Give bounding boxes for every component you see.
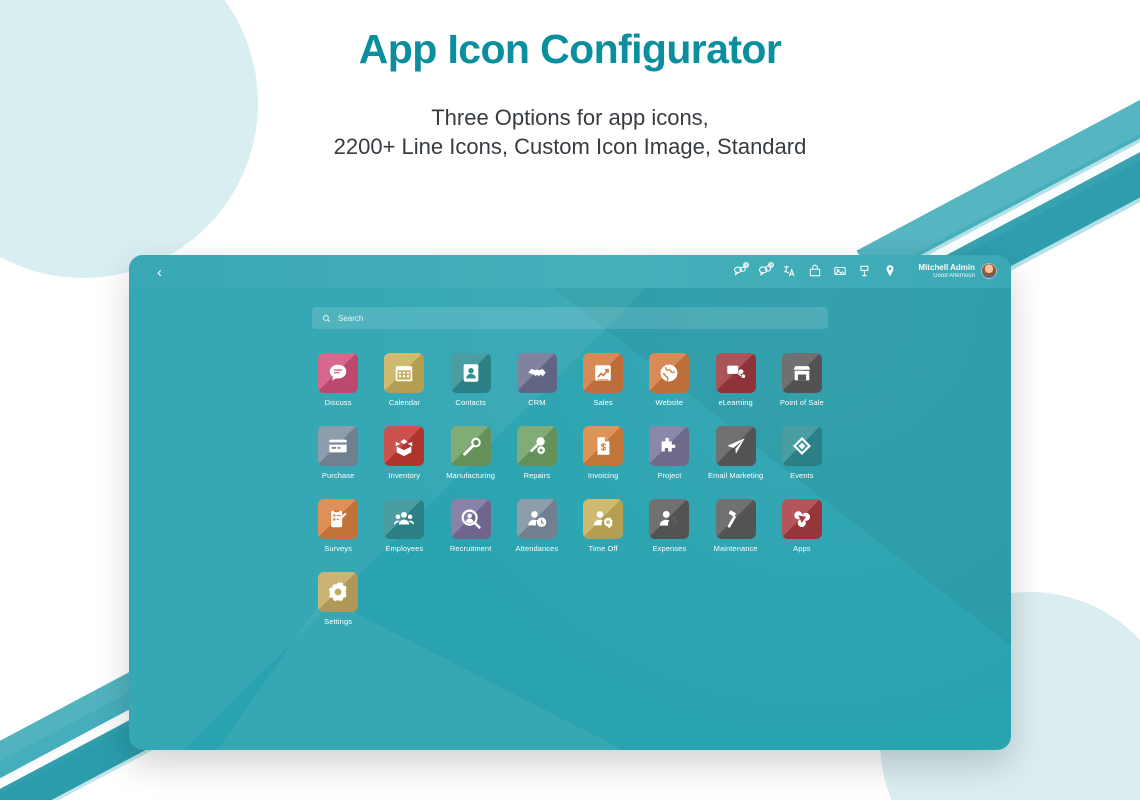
app-tile-label: Attendances — [515, 544, 558, 553]
window-header: ‹ 1 3 — [129, 255, 1011, 288]
presentation-icon[interactable] — [716, 353, 756, 393]
app-tile-purchase[interactable]: Purchase — [305, 426, 371, 480]
megaphone-icon[interactable] — [858, 264, 872, 278]
app-tile-contacts[interactable]: Contacts — [438, 353, 504, 407]
puzzle-icon[interactable] — [649, 426, 689, 466]
people-group-icon[interactable] — [384, 499, 424, 539]
app-tile-label: Recruitment — [450, 544, 492, 553]
messages-badge: 1 — [743, 262, 749, 268]
paper-plane-icon[interactable] — [716, 426, 756, 466]
app-tile-recruitment[interactable]: Recruitment — [438, 499, 504, 553]
activities-badge: 3 — [768, 262, 774, 268]
gallery-icon[interactable] — [833, 264, 847, 278]
app-tile-label: Project — [657, 471, 681, 480]
app-tile-label: Surveys — [324, 544, 352, 553]
decor-stripe-top-right-1 — [857, 53, 1140, 280]
calendar-icon[interactable] — [384, 353, 424, 393]
systray: 1 3 — [733, 263, 997, 279]
app-tile-label: Sales — [593, 398, 612, 407]
messages-icon[interactable]: 1 — [733, 264, 747, 278]
app-tile-project[interactable]: Project — [636, 426, 702, 480]
app-tile-label: Apps — [793, 544, 811, 553]
user-greeting: Good Afternoon — [918, 273, 975, 280]
app-tile-label: Website — [656, 398, 684, 407]
app-tile-events[interactable]: Events — [769, 426, 835, 480]
app-tile-apps[interactable]: Apps — [769, 499, 835, 553]
app-tile-surveys[interactable]: Surveys — [305, 499, 371, 553]
person-clock-icon[interactable] — [517, 499, 557, 539]
search-placeholder: Search — [338, 314, 363, 323]
app-tile-label: Email Marketing — [708, 471, 763, 480]
contact-card-icon[interactable] — [451, 353, 491, 393]
hammer-icon[interactable] — [716, 499, 756, 539]
app-tile-elearning[interactable]: eLearning — [703, 353, 769, 407]
app-tile-point-of-sale[interactable]: Point of Sale — [769, 353, 835, 407]
person-gear-icon[interactable] — [583, 499, 623, 539]
shop-icon[interactable] — [808, 264, 822, 278]
app-tile-maintenance[interactable]: Maintenance — [703, 499, 769, 553]
translate-icon[interactable] — [783, 264, 797, 278]
app-tile-sales[interactable]: Sales — [570, 353, 636, 407]
location-pin-icon[interactable] — [883, 264, 897, 278]
app-tile-employees[interactable]: Employees — [371, 499, 437, 553]
activities-icon[interactable]: 3 — [758, 264, 772, 278]
search-area: Search — [129, 288, 1011, 329]
app-tile-settings[interactable]: Settings — [305, 572, 371, 626]
app-tile-crm[interactable]: CRM — [504, 353, 570, 407]
wrench-icon[interactable] — [451, 426, 491, 466]
chat-bubbles-icon[interactable] — [318, 353, 358, 393]
app-tile-label: Expenses — [653, 544, 687, 553]
app-tile-label: Discuss — [325, 398, 352, 407]
app-tile-label: Maintenance — [714, 544, 758, 553]
page-title: App Icon Configurator — [0, 26, 1140, 73]
credit-card-icon[interactable] — [318, 426, 358, 466]
wrench-gear-icon[interactable] — [517, 426, 557, 466]
app-tile-label: Time Off — [589, 544, 618, 553]
app-tile-label: Employees — [385, 544, 423, 553]
user-name: Mitchell Admin — [918, 263, 975, 272]
person-dollar-icon[interactable] — [649, 499, 689, 539]
cubes-icon[interactable] — [782, 499, 822, 539]
back-button[interactable]: ‹ — [157, 265, 162, 280]
app-tile-repairs[interactable]: Repairs — [504, 426, 570, 480]
avatar[interactable] — [981, 263, 997, 279]
app-tile-website[interactable]: Website — [636, 353, 702, 407]
app-tile-expenses[interactable]: Expenses — [636, 499, 702, 553]
app-tile-label: Manufacturing — [446, 471, 495, 480]
app-tile-email-marketing[interactable]: Email Marketing — [703, 426, 769, 480]
chart-up-icon[interactable] — [583, 353, 623, 393]
ticket-icon[interactable] — [782, 426, 822, 466]
app-tile-time-off[interactable]: Time Off — [570, 499, 636, 553]
search-input[interactable]: Search — [312, 307, 828, 329]
app-grid: DiscussCalendarContactsCRMSalesWebsiteeL… — [305, 353, 835, 626]
app-tile-label: Invoicing — [588, 471, 619, 480]
handshake-icon[interactable] — [517, 353, 557, 393]
invoice-dollar-icon[interactable] — [583, 426, 623, 466]
app-tile-label: Contacts — [455, 398, 485, 407]
search-icon — [322, 314, 331, 323]
app-tile-manufacturing[interactable]: Manufacturing — [438, 426, 504, 480]
magnifier-person-icon[interactable] — [451, 499, 491, 539]
clipboard-pencil-icon[interactable] — [318, 499, 358, 539]
user-text: Mitchell Admin Good Afternoon — [918, 263, 975, 279]
page-subtitle-line-1: Three Options for app icons, — [0, 104, 1140, 133]
app-tile-label: Events — [790, 471, 814, 480]
app-tile-label: eLearning — [718, 398, 752, 407]
app-tile-attendances[interactable]: Attendances — [504, 499, 570, 553]
gear-icon[interactable] — [318, 572, 358, 612]
app-tile-inventory[interactable]: Inventory — [371, 426, 437, 480]
page-subtitle-line-2: 2200+ Line Icons, Custom Icon Image, Sta… — [0, 133, 1140, 162]
app-tile-label: CRM — [528, 398, 545, 407]
page-root: App Icon Configurator Three Options for … — [0, 0, 1140, 800]
page-subtitle: Three Options for app icons, 2200+ Line … — [0, 104, 1140, 161]
open-box-icon[interactable] — [384, 426, 424, 466]
app-tile-label: Repairs — [524, 471, 551, 480]
app-tile-label: Settings — [324, 617, 352, 626]
app-tile-label: Calendar — [389, 398, 420, 407]
app-tile-calendar[interactable]: Calendar — [371, 353, 437, 407]
app-window: ‹ 1 3 — [129, 255, 1011, 750]
app-tile-label: Inventory — [389, 471, 421, 480]
storefront-icon[interactable] — [782, 353, 822, 393]
app-tile-discuss[interactable]: Discuss — [305, 353, 371, 407]
app-tile-label: Purchase — [322, 471, 355, 480]
user-menu[interactable]: Mitchell Admin Good Afternoon — [918, 263, 997, 279]
globe-icon[interactable] — [649, 353, 689, 393]
app-tile-label: Point of Sale — [780, 398, 824, 407]
app-tile-invoicing[interactable]: Invoicing — [570, 426, 636, 480]
